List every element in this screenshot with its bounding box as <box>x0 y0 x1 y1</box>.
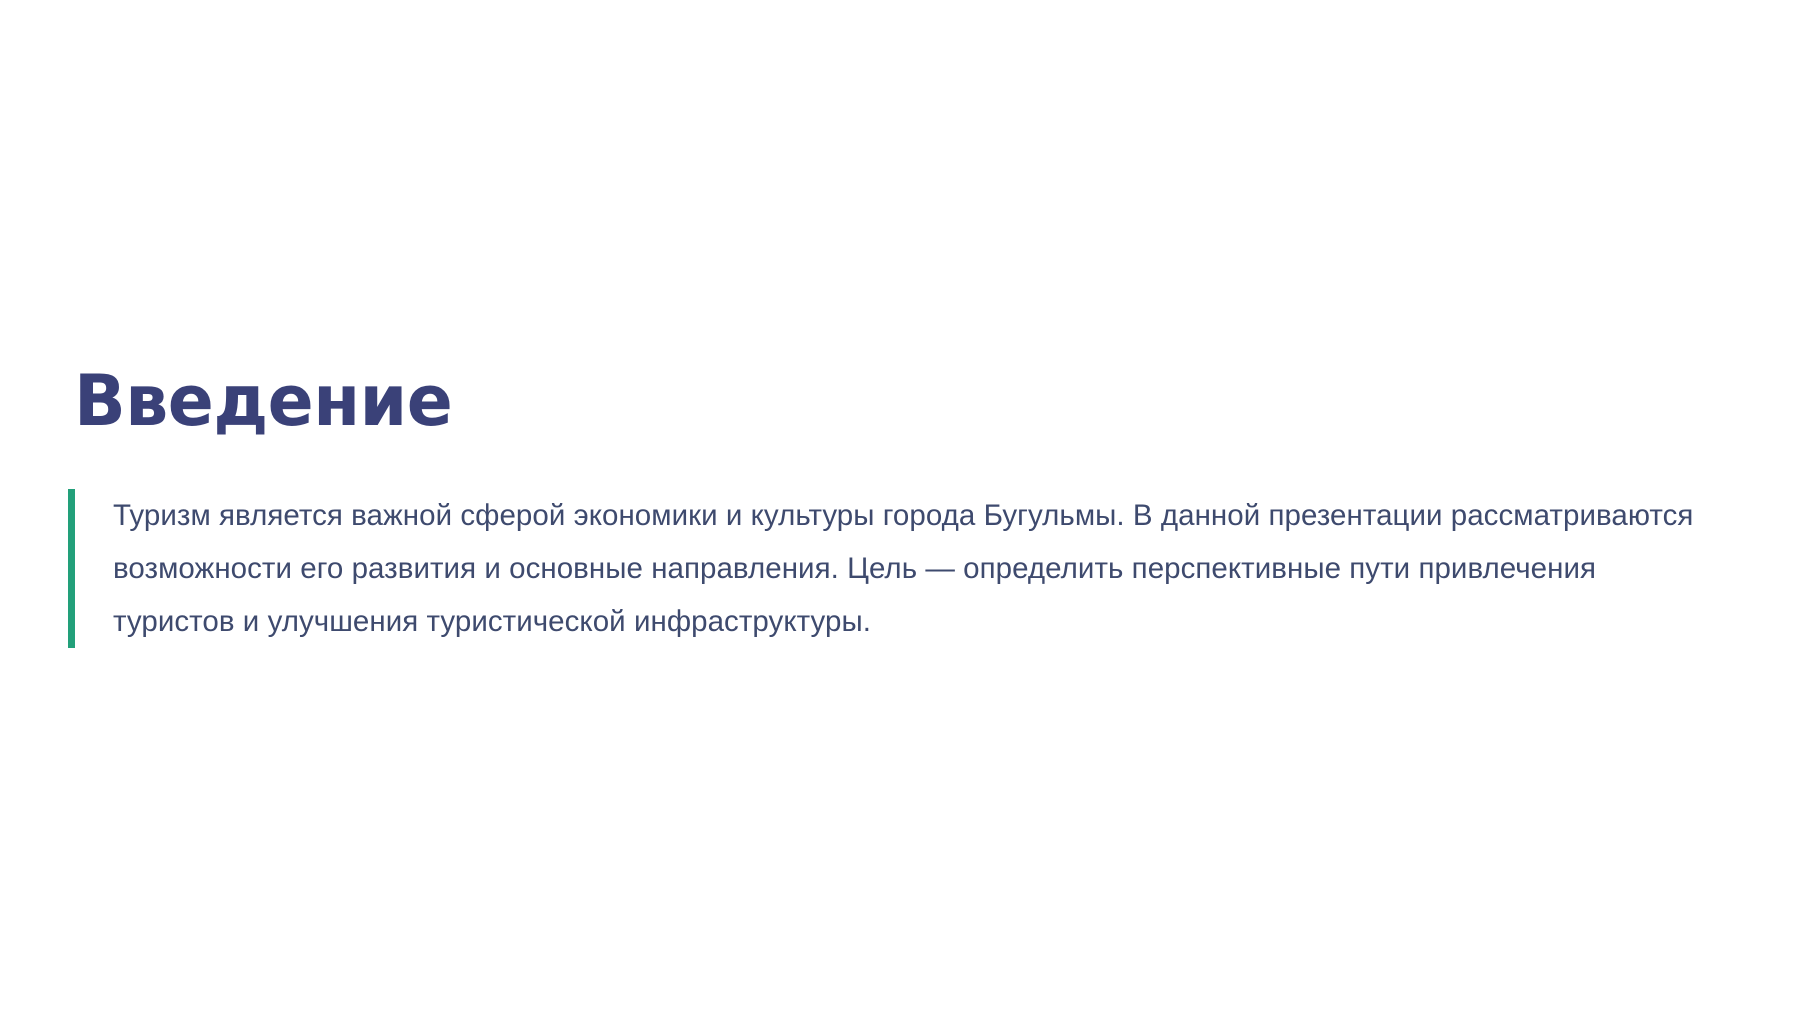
body-content-block: Туризм является важной сферой экономики … <box>68 489 1728 648</box>
page-title: Введение <box>74 366 452 436</box>
green-accent-bar <box>68 489 75 648</box>
presentation-slide: Введение Туризм является важной сферой э… <box>0 0 1800 1013</box>
intro-paragraph: Туризм является важной сферой экономики … <box>75 489 1703 648</box>
